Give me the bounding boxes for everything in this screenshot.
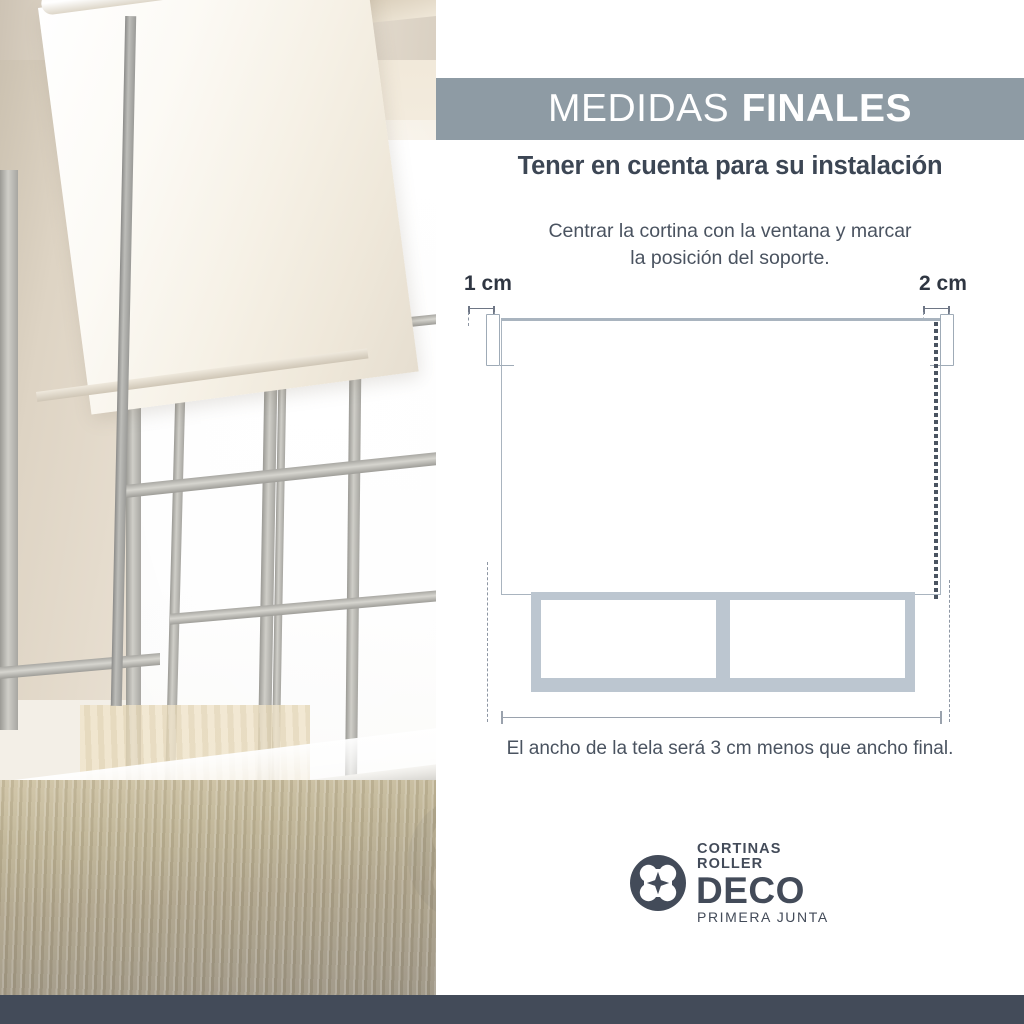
subtitle: Tener en cuenta para su instalación [436,152,1024,181]
window-pane-right [730,600,905,678]
bracket-left-arm [500,365,514,366]
left-gap-measure-line [468,308,495,309]
bracket-right-icon [940,314,954,366]
right-gap-measure-line [923,308,950,309]
brand-tagline-top: CORTINAS ROLLER [697,842,830,871]
left-gap-dash [468,312,469,326]
bottom-bar [0,995,1024,1024]
total-width-guide-right [949,580,950,722]
brand-tagline-bottom: PRIMERA JUNTA [697,910,830,924]
page-title: MEDIDAS FINALES [436,78,1024,140]
header-bar: MEDIDAS FINALES [436,78,1024,140]
window-pane-left [541,600,716,678]
total-width-cap-right [940,711,942,724]
roller-tube [501,318,941,321]
total-width-cap-left [501,711,503,724]
bead-chain-icon [934,322,938,602]
photo-wood-floor [0,780,436,995]
infographic-page: MEDIDAS FINALES Tener en cuenta para su … [0,0,1024,1024]
roller-blind-fabric [501,320,941,595]
total-width-measure-line [501,717,941,718]
roller-blind-window-photo [0,0,436,995]
left-gap-label: 1 cm [464,272,512,296]
brand-name: DECO [696,872,830,909]
bracket-left-icon [486,314,500,366]
page-title-light: MEDIDAS [548,87,729,131]
page-title-bold: FINALES [742,87,912,131]
footnote-text: El ancho de la tela será 3 cm menos que … [436,738,1024,760]
photo-frame-post [0,170,18,730]
right-gap-label: 2 cm [919,272,967,296]
quatrefoil-logo-icon [630,855,686,911]
instruction-line-1: Centrar la cortina con la ventana y marc… [436,218,1024,245]
installation-diagram: 1 cm 2 cm [436,262,1024,732]
brand-logo: CORTINAS ROLLER DECO PRIMERA JUNTA [630,850,830,916]
total-width-guide-left [487,562,488,722]
brand-logo-text: CORTINAS ROLLER DECO PRIMERA JUNTA [697,842,830,924]
